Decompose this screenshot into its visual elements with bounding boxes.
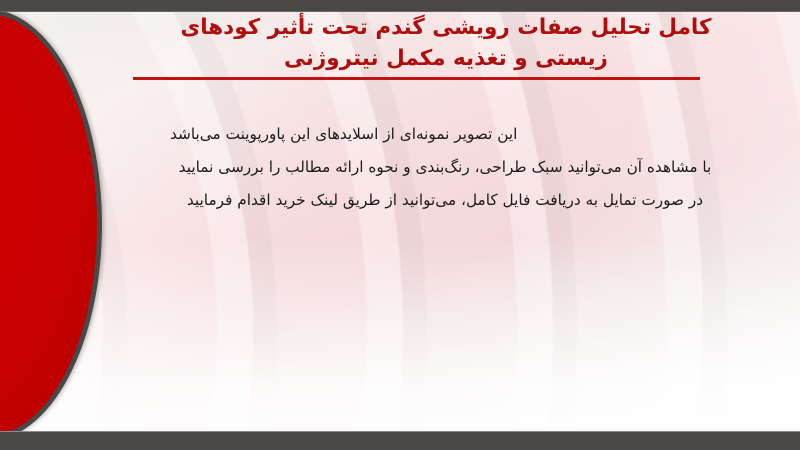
slide-title: کامل تحلیل صفات رویشی گندم تحت تأثیر کود…: [110, 12, 782, 74]
presentation-slide: کامل تحلیل صفات رویشی گندم تحت تأثیر کود…: [0, 0, 800, 450]
slide-body-text: این تصویر نمونه‌ای از اسلایدهای این پاور…: [110, 118, 780, 217]
bottom-accent-bar: [0, 431, 800, 450]
slide-title-line-2: زیستی و تغذیه مکمل نیتروژنی: [110, 43, 782, 74]
slide-title-line-1: کامل تحلیل صفات رویشی گندم تحت تأثیر کود…: [110, 12, 782, 43]
body-text-line-3: در صورت تمایل به دریافت فایل کامل، می‌تو…: [110, 184, 780, 217]
red-ellipse-shape: [0, 9, 102, 441]
body-text-line-1: این تصویر نمونه‌ای از اسلایدهای این پاور…: [110, 118, 780, 151]
background-bottom-fade: [0, 240, 800, 450]
title-underline-rule: [133, 77, 700, 80]
body-text-line-2: با مشاهده آن می‌توانید سبک طراحی، رنگ‌بن…: [110, 151, 780, 184]
top-accent-bar: [0, 0, 800, 12]
left-red-ellipse-decoration: [0, 9, 102, 441]
